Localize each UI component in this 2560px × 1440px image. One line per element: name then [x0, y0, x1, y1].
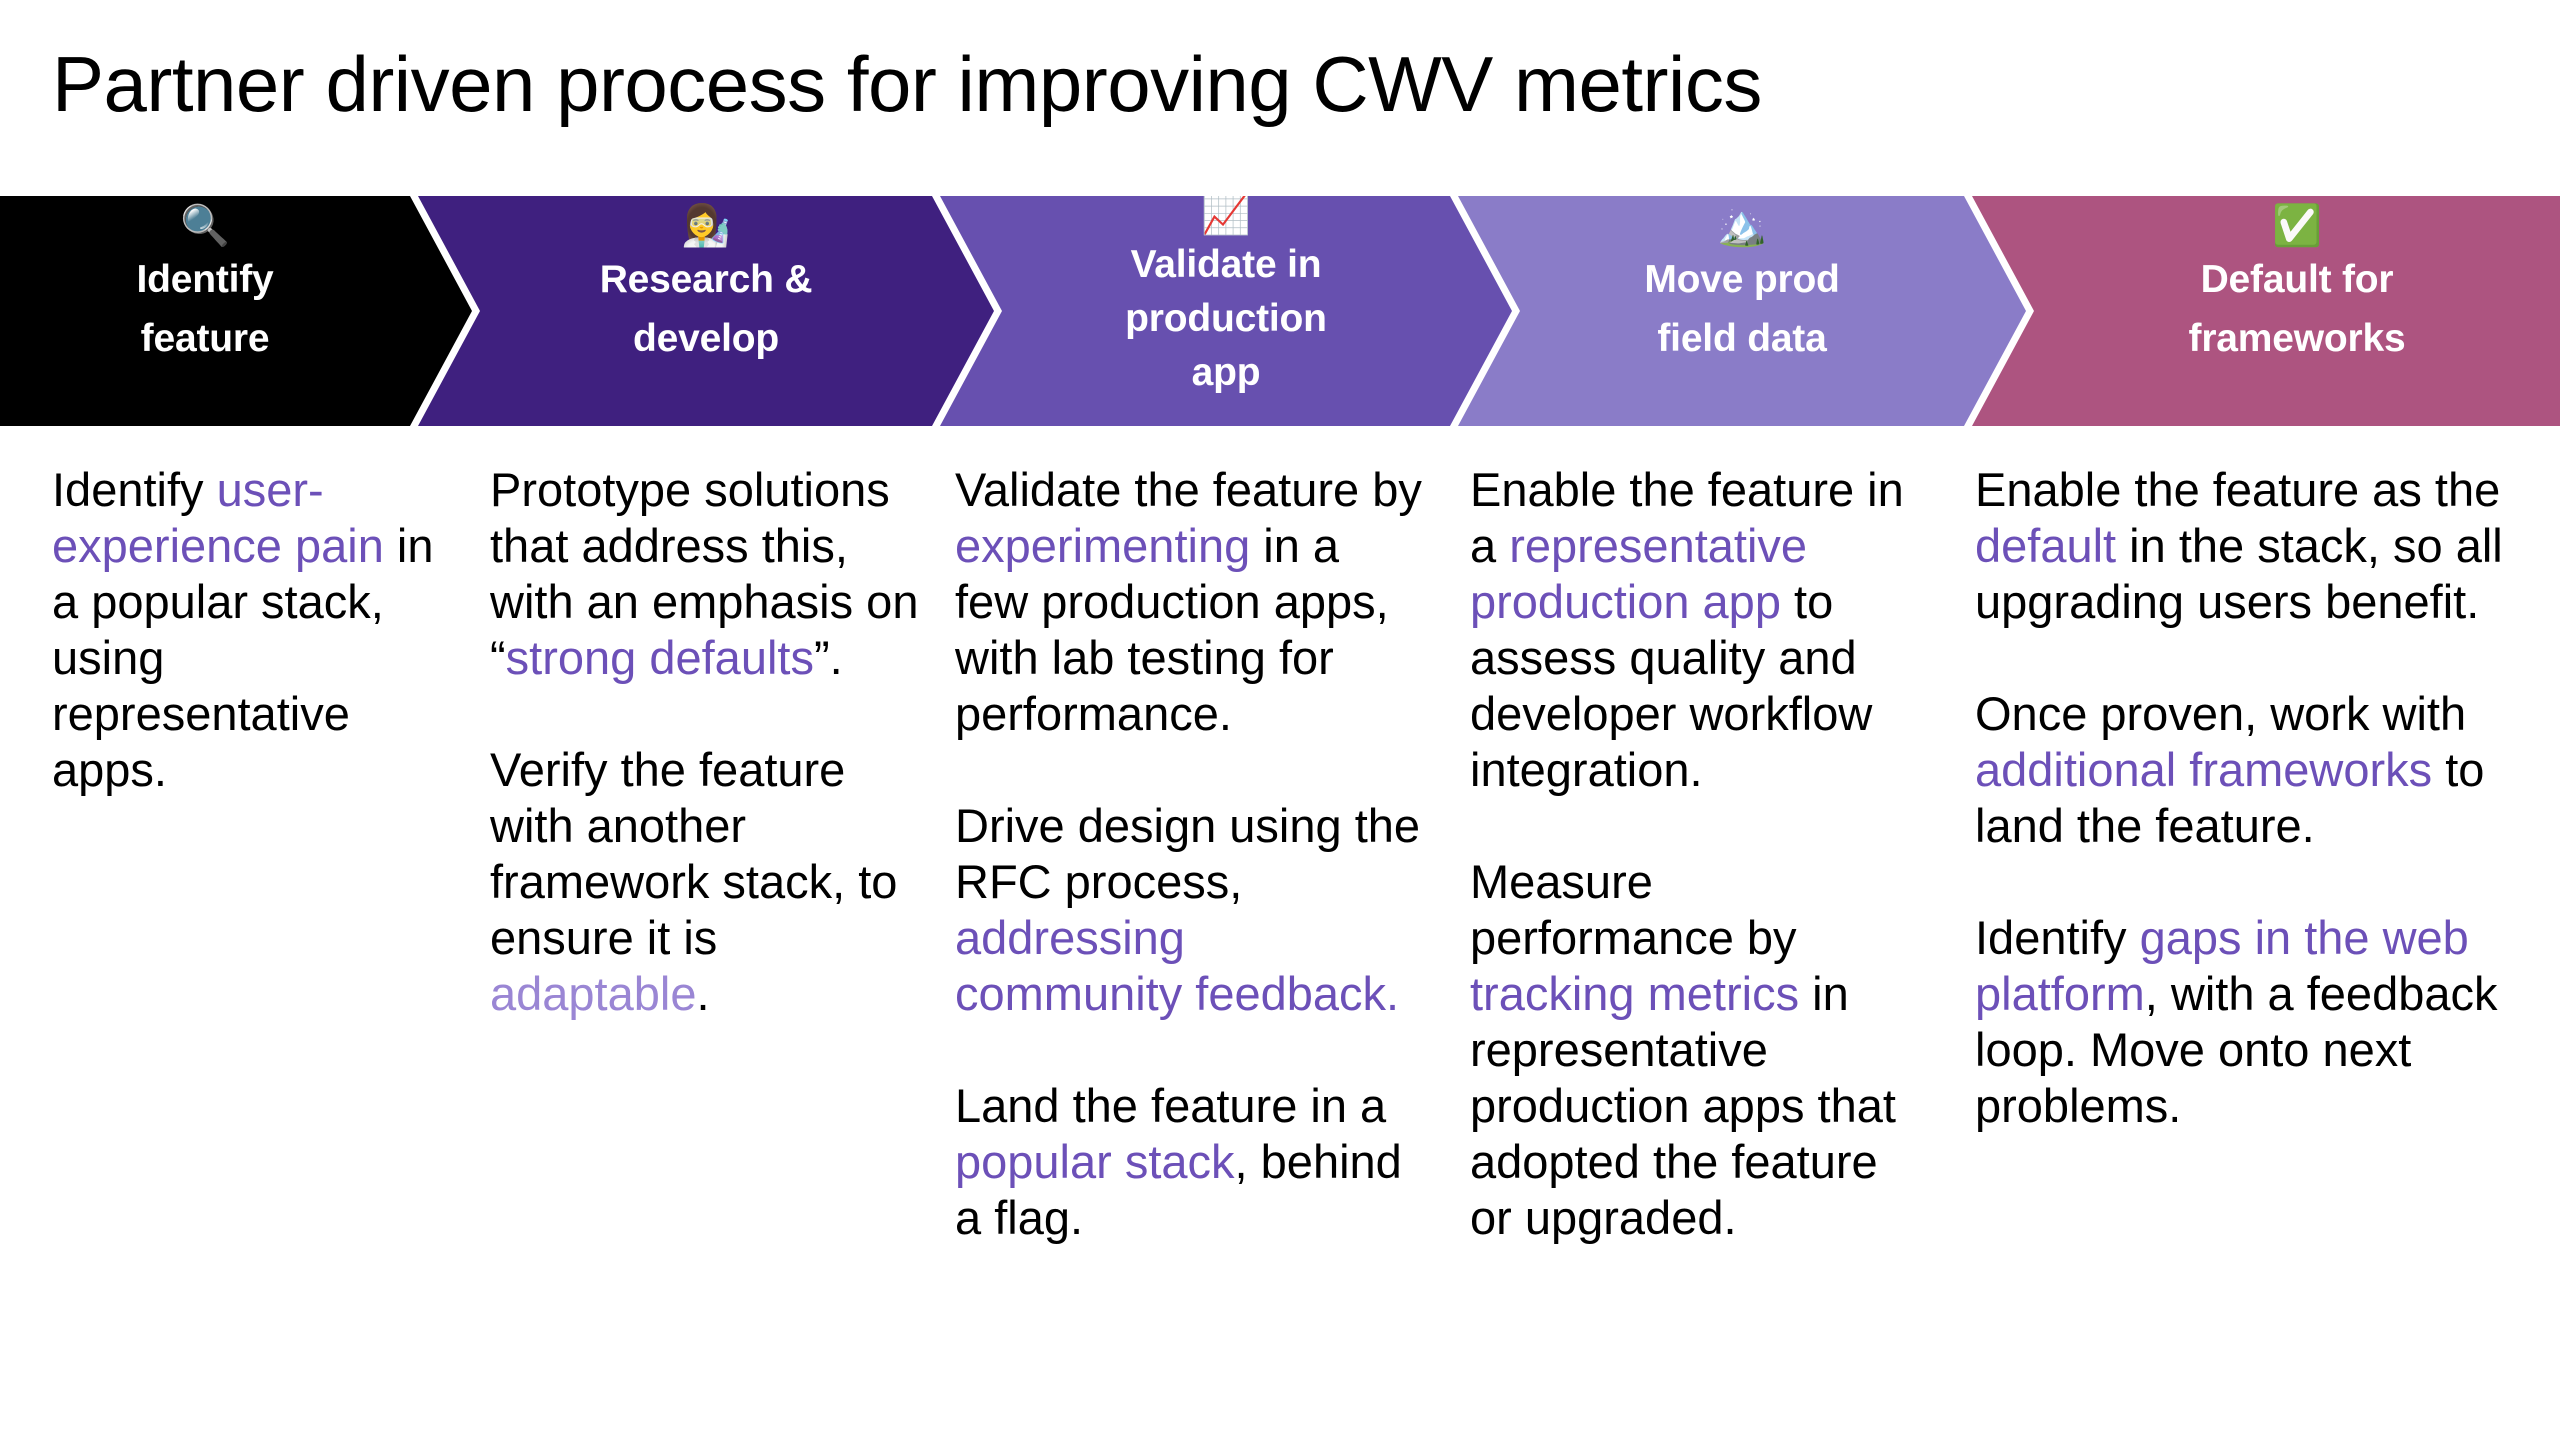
process-step-2[interactable]: 👩‍🔬Research &develop — [418, 196, 994, 426]
highlight-text-run: addressing community feedback. — [955, 911, 1399, 1020]
process-chevron-band: 🔍Identifyfeature👩‍🔬Research &develop📈Val… — [0, 196, 2560, 426]
process-step-content: 🔍Identifyfeature — [0, 196, 410, 426]
paragraph: Measure performance by tracking metrics … — [1470, 854, 1925, 1246]
step-description-4: Enable the feature in a representative p… — [1470, 462, 1925, 1246]
process-step-label-line-2: develop — [480, 309, 932, 368]
process-step-4[interactable]: 🏔️Move prodfield data — [1458, 196, 2026, 426]
highlight-text-run: default — [1975, 519, 2116, 572]
process-step-label-line-1: Research & — [480, 250, 932, 309]
text-run: Validate the feature by — [955, 463, 1422, 516]
paragraph: Identify gaps in the web platform, with … — [1975, 910, 2520, 1134]
text-run: Identify — [1975, 911, 2140, 964]
text-run: Drive design using the RFC process, — [955, 799, 1420, 908]
process-step-label-line-2: feature — [0, 309, 410, 368]
process-step-label-line-1: Identify — [0, 250, 410, 309]
highlight-text-run: strong defaults — [506, 631, 814, 684]
highlight-text-run: experimenting — [955, 519, 1250, 572]
highlight-text-run: representative production app — [1470, 519, 1807, 628]
process-step-label-line-2: production — [1002, 292, 1450, 346]
process-step-content: 🏔️Move prodfield data — [1520, 196, 1964, 426]
step-description-columns: Identify user-experience pain in a popul… — [0, 462, 2560, 1362]
text-run: Enable the feature as the — [1975, 463, 2500, 516]
process-step-label-line-1: Move prod — [1520, 250, 1964, 309]
paragraph: Enable the feature in a representative p… — [1470, 462, 1925, 798]
paragraph: Enable the feature as the default in the… — [1975, 462, 2520, 630]
text-run: Once proven, work with — [1975, 687, 2466, 740]
highlight-text-run: tracking metrics — [1470, 967, 1799, 1020]
process-step-content: 👩‍🔬Research &develop — [480, 196, 932, 426]
paragraph: Once proven, work with additional framew… — [1975, 686, 2520, 854]
process-step-5[interactable]: ✅Default forframeworks — [1972, 196, 2560, 426]
process-step-label-line-2: field data — [1520, 309, 1964, 368]
paragraph: Prototype solutions that address this, w… — [490, 462, 920, 686]
step-description-3: Validate the feature by experimenting in… — [955, 462, 1425, 1246]
text-run: Verify the feature with another framewor… — [490, 743, 897, 964]
paragraph: Validate the feature by experimenting in… — [955, 462, 1425, 742]
step-description-1: Identify user-experience pain in a popul… — [52, 462, 452, 798]
process-step-label-line-1: Default for — [2034, 250, 2560, 309]
process-step-label-line-3: app — [1002, 346, 1450, 400]
check-mark-button-icon: ✅ — [2034, 204, 2560, 250]
process-step-3[interactable]: 📈Validate inproductionapp — [940, 196, 1512, 426]
highlight-text-run: additional frameworks — [1975, 743, 2432, 796]
paragraph: Identify user-experience pain in a popul… — [52, 462, 452, 798]
paragraph: Verify the feature with another framewor… — [490, 742, 920, 1022]
paragraph: Drive design using the RFC process, addr… — [955, 798, 1425, 1022]
process-step-1[interactable]: 🔍Identifyfeature — [0, 196, 472, 426]
step-description-5: Enable the feature as the default in the… — [1975, 462, 2520, 1134]
process-step-content: ✅Default forframeworks — [2034, 196, 2560, 426]
chart-increasing-icon: 📈 — [1002, 192, 1450, 238]
text-run: . — [696, 967, 709, 1020]
page-title: Partner driven process for improving CWV… — [52, 38, 1762, 130]
text-run: Land the feature in a — [955, 1079, 1386, 1132]
step-description-2: Prototype solutions that address this, w… — [490, 462, 920, 1022]
process-step-label-line-2: frameworks — [2034, 309, 2560, 368]
highlight-text-run: adaptable — [490, 967, 696, 1020]
magnifying-glass-icon: 🔍 — [0, 204, 410, 250]
process-step-content: 📈Validate inproductionapp — [1002, 196, 1450, 426]
snow-capped-mountain-icon: 🏔️ — [1520, 204, 1964, 250]
text-run: ”. — [814, 631, 843, 684]
woman-scientist-icon: 👩‍🔬 — [480, 204, 932, 250]
text-run: Measure performance by — [1470, 855, 1797, 964]
text-run: Identify — [52, 463, 217, 516]
process-step-label-line-1: Validate in — [1002, 238, 1450, 292]
highlight-text-run: popular stack — [955, 1135, 1235, 1188]
paragraph: Land the feature in a popular stack, beh… — [955, 1078, 1425, 1246]
